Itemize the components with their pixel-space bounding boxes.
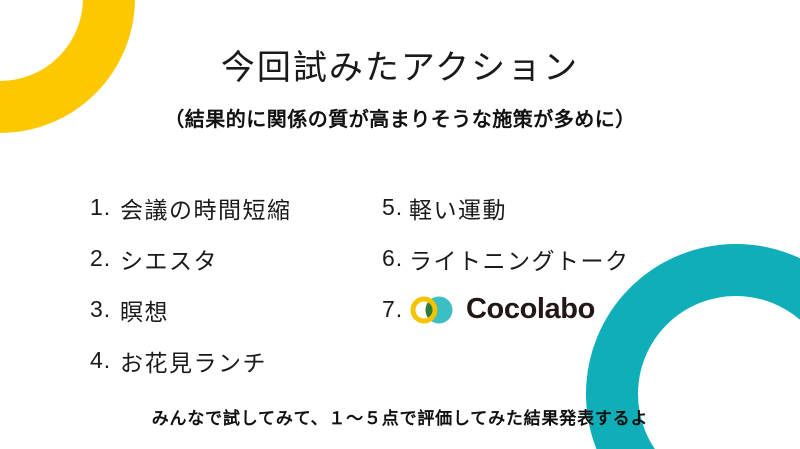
slide-title: 今回試みたアクション	[0, 48, 800, 89]
list-item: 6. ライトニングトーク	[382, 233, 630, 284]
list-item-label: 会議の時間短縮	[120, 191, 292, 225]
list-item-number: 7.	[382, 296, 409, 323]
list-item-number: 3.	[90, 296, 120, 323]
cocolabo-wordmark: Cocolabo	[466, 295, 595, 324]
list-item-number: 1.	[90, 194, 120, 221]
list-item-cocolabo: 7.	[382, 284, 630, 335]
slide-footnote: みんなで試してみて、１〜５点で評価してみた結果発表するよ	[0, 404, 800, 429]
slide-canvas: 今回試みたアクション （結果的に関係の質が高まりそうな施策が多めに） 1. 会議…	[0, 0, 800, 449]
list-item: 2. シエスタ	[90, 233, 292, 284]
cocolabo-circles-icon	[409, 295, 459, 325]
list-item-label: 瞑想	[120, 293, 169, 327]
list-item-number: 4.	[90, 347, 120, 374]
list-item: 3. 瞑想	[90, 284, 292, 335]
list-item: 4. お花見ランチ	[90, 335, 292, 386]
list-item-number: 2.	[90, 245, 120, 272]
list-item-number: 6.	[382, 245, 409, 272]
list-item-number: 5.	[382, 194, 409, 221]
list-item: 1. 会議の時間短縮	[90, 182, 292, 233]
list-item: 5. 軽い運動	[382, 182, 630, 233]
list-item-label: 軽い運動	[409, 191, 507, 225]
list-item-label: ライトニングトーク	[409, 242, 630, 276]
list-item-label: シエスタ	[120, 242, 218, 276]
list-item-label: お花見ランチ	[120, 344, 267, 378]
action-list-right-column: 5. 軽い運動 6. ライトニングトーク 7.	[382, 182, 630, 335]
slide-subtitle: （結果的に関係の質が高まりそうな施策が多めに）	[0, 107, 800, 133]
action-list-left-column: 1. 会議の時間短縮 2. シエスタ 3. 瞑想 4. お花見ランチ	[90, 182, 292, 386]
cocolabo-logo: Cocolabo	[409, 295, 595, 325]
